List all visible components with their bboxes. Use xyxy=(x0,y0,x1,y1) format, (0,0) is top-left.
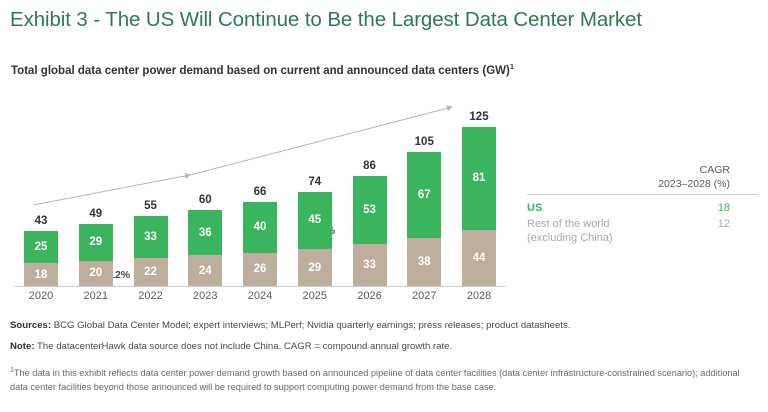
bar-group[interactable]: 1258144 xyxy=(452,92,506,286)
x-axis-label: 2024 xyxy=(233,290,287,302)
sources-label: Sources: xyxy=(10,320,51,331)
note-text: The datacenterHawk data source does not … xyxy=(35,341,453,352)
chart-subtitle-text: Total global data center power demand ba… xyxy=(11,65,510,77)
cagr-label-rest-of-world-line1: Rest of the world xyxy=(527,217,613,231)
bar-group[interactable]: 664026 xyxy=(233,92,287,286)
bar-segment-us[interactable]: 45 xyxy=(298,192,332,249)
bar-total-label: 125 xyxy=(452,111,506,123)
bar-group[interactable]: 492920 xyxy=(69,92,123,286)
bar-segment-us[interactable]: 67 xyxy=(407,152,441,237)
bar-segment-us[interactable]: 25 xyxy=(24,231,58,263)
x-axis-label: 2023 xyxy=(178,290,232,302)
note-label: Note: xyxy=(10,341,35,352)
bar-stack[interactable]: 5333 xyxy=(353,176,387,286)
x-axis-label: 2027 xyxy=(397,290,451,302)
bar-segment-us[interactable]: 81 xyxy=(462,127,496,230)
bar-stack[interactable]: 2920 xyxy=(79,224,113,286)
bar-segment-rest-of-world[interactable]: 24 xyxy=(188,255,222,286)
cagr-row-rest-of-world: Rest of the world (excluding China) 12 xyxy=(527,215,758,245)
bar-segment-rest-of-world[interactable]: 38 xyxy=(407,238,441,286)
bar-total-label: 43 xyxy=(14,215,68,227)
bar-stack[interactable]: 3624 xyxy=(188,210,222,286)
note-line: Note: The datacenterHawk data source doe… xyxy=(10,339,758,354)
bar-total-label: 105 xyxy=(397,136,451,148)
x-axis-line xyxy=(14,286,506,287)
bar-stack[interactable]: 6738 xyxy=(407,152,441,286)
fine-print-footnote: 1The data in this exhibit reflects data … xyxy=(10,364,758,394)
cagr-value-us: 18 xyxy=(718,201,758,215)
bar-stack[interactable]: 2518 xyxy=(24,231,58,286)
sources-text: BCG Global Data Center Model; expert int… xyxy=(51,320,570,331)
bar-segment-us[interactable]: 40 xyxy=(243,202,277,253)
bar-groups: 4325184929205533226036246640267445298653… xyxy=(14,92,506,286)
bar-stack[interactable]: 4529 xyxy=(298,192,332,286)
bar-group[interactable]: 432518 xyxy=(14,92,68,286)
bar-segment-us[interactable]: 33 xyxy=(134,216,168,258)
bar-total-label: 66 xyxy=(233,186,287,198)
cagr-value-rest-of-world: 12 xyxy=(718,217,758,231)
x-axis-labels: 202020212022202320242025202620272028 xyxy=(14,290,506,302)
cagr-header-line2: 2023–2028 (%) xyxy=(527,177,730,191)
stacked-bar-chart: +12% +16% 432518492920553322603624664026… xyxy=(0,92,520,307)
bar-stack[interactable]: 4026 xyxy=(243,202,277,286)
bar-group[interactable]: 603624 xyxy=(178,92,232,286)
x-axis-label: 2022 xyxy=(124,290,178,302)
x-axis-label: 2021 xyxy=(69,290,123,302)
cagr-row-us: US 18 xyxy=(527,195,758,215)
bar-total-label: 74 xyxy=(288,176,342,188)
bar-segment-us[interactable]: 53 xyxy=(353,176,387,244)
x-axis-label: 2026 xyxy=(343,290,397,302)
bar-group[interactable]: 1056738 xyxy=(397,92,451,286)
exhibit-page: Exhibit 3 - The US Will Continue to Be t… xyxy=(0,0,768,412)
bar-total-label: 49 xyxy=(69,208,123,220)
bar-group[interactable]: 553322 xyxy=(124,92,178,286)
x-axis-label: 2028 xyxy=(452,290,506,302)
bar-segment-rest-of-world[interactable]: 44 xyxy=(462,230,496,286)
cagr-header-line1: CAGR xyxy=(527,163,730,177)
bar-segment-rest-of-world[interactable]: 18 xyxy=(24,263,58,286)
bar-group[interactable]: 865333 xyxy=(343,92,397,286)
page-title: Exhibit 3 - The US Will Continue to Be t… xyxy=(10,8,642,32)
chart-subtitle-footnote-marker: 1 xyxy=(510,62,514,71)
bar-stack[interactable]: 8144 xyxy=(462,127,496,286)
cagr-header: CAGR 2023–2028 (%) xyxy=(527,163,758,191)
bar-segment-rest-of-world[interactable]: 22 xyxy=(134,258,168,286)
bar-total-label: 55 xyxy=(124,200,178,212)
bar-segment-us[interactable]: 36 xyxy=(188,210,222,256)
cagr-label-rest-of-world-line2: (excluding China) xyxy=(527,231,613,245)
bar-total-label: 60 xyxy=(178,194,232,206)
x-axis-label: 2020 xyxy=(14,290,68,302)
chart-subtitle: Total global data center power demand ba… xyxy=(11,62,514,77)
bar-stack[interactable]: 3322 xyxy=(134,216,168,286)
bar-segment-rest-of-world[interactable]: 26 xyxy=(243,253,277,286)
footnotes: Sources: BCG Global Data Center Model; e… xyxy=(10,318,758,360)
bar-segment-rest-of-world[interactable]: 33 xyxy=(353,244,387,286)
bar-group[interactable]: 744529 xyxy=(288,92,342,286)
cagr-legend: CAGR 2023–2028 (%) US 18 Rest of the wor… xyxy=(527,163,758,245)
x-axis-label: 2025 xyxy=(288,290,342,302)
cagr-label-us: US xyxy=(527,201,542,215)
bar-total-label: 86 xyxy=(343,160,397,172)
bar-segment-rest-of-world[interactable]: 20 xyxy=(79,261,113,286)
bar-segment-us[interactable]: 29 xyxy=(79,224,113,261)
sources-line: Sources: BCG Global Data Center Model; e… xyxy=(10,318,758,333)
fine-print-text: The data in this exhibit reflects data c… xyxy=(10,368,740,392)
bar-segment-rest-of-world[interactable]: 29 xyxy=(298,249,332,286)
cagr-label-rest-of-world: Rest of the world (excluding China) xyxy=(527,217,613,245)
